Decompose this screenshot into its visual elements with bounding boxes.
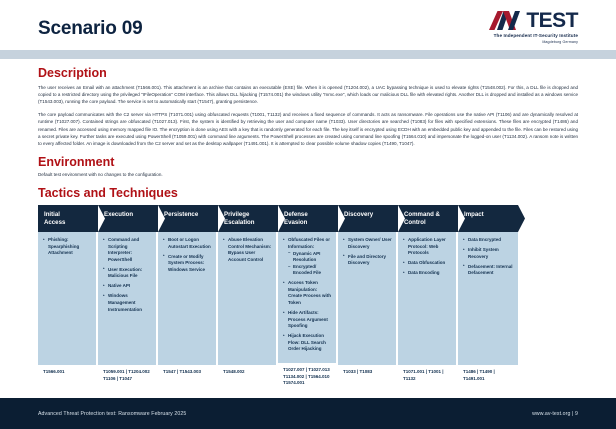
technique-item: Data Encoding <box>403 270 452 277</box>
chevron-notch-icon <box>158 205 165 232</box>
technique-list: System Owner/ User DiscoveryFile and Dir… <box>343 237 392 267</box>
technique-list: Data EncryptedInhibit System RecoveryDef… <box>463 237 514 277</box>
technique-item: Application Layer Protocol: Web Protocol… <box>403 237 452 257</box>
technique-ids: T1071.001 | T1001 | T1132 <box>398 365 456 389</box>
technique-label: Access Token Manipulation: Create Proces… <box>288 280 331 305</box>
technique-label: File and Directory Discovery <box>348 254 386 266</box>
page-title: Scenario 09 <box>38 19 142 38</box>
chevron-notch-icon <box>338 205 345 232</box>
chevron-notch-icon <box>398 205 405 232</box>
technique-item: Native API <box>103 283 152 290</box>
description-heading: Description <box>38 67 578 81</box>
tactic-column-body: System Owner/ User DiscoveryFile and Dir… <box>338 232 396 365</box>
tactic-column-body: Data EncryptedInhibit System RecoveryDef… <box>458 232 518 365</box>
technique-label: Obfuscated Files or Information: <box>288 237 330 249</box>
tactic-column-header: Execution <box>98 205 158 232</box>
environment-text: Default test environment with no changes… <box>38 172 578 179</box>
tactic-column-header: Impact <box>458 205 518 232</box>
environment-heading: Environment <box>38 156 578 170</box>
tactic-column-body: Obfuscated Files or Information:Dynamic … <box>278 232 336 363</box>
footer-url-page: www.av-test.org | 9 <box>532 411 578 417</box>
technique-ids: T1548.002 <box>218 365 276 389</box>
tactic-header-line: Evasion <box>284 219 338 227</box>
technique-item: Windows Management Instrumentation <box>103 293 152 313</box>
tactic-header-line: Discovery <box>344 211 398 219</box>
av-chevron-icon <box>489 11 525 31</box>
technique-list: Phishing: Spearphishing Attachment <box>43 237 92 257</box>
technique-label: Boot or Logon Autostart Execution <box>168 237 211 249</box>
slide-footer: Advanced Threat Protection test: Ransomw… <box>0 398 616 429</box>
tactic-header-line: Control <box>404 219 458 227</box>
tactic-column: ExecutionCommand and Scripting Interpret… <box>98 205 158 389</box>
technique-list: Boot or Logon Autostart ExecutionCreate … <box>163 237 212 273</box>
technique-item: Defacement: Internal Defacement <box>463 264 514 277</box>
technique-label: Abuse Elevation Control Mechanism: Bypas… <box>228 237 271 262</box>
tactic-column-header: InitialAccess <box>38 205 98 232</box>
technique-list: Application Layer Protocol: Web Protocol… <box>403 237 452 277</box>
technique-item: Phishing: Spearphishing Attachment <box>43 237 92 257</box>
technique-label: Phishing: Spearphishing Attachment <box>48 237 79 255</box>
technique-label: Command and Scripting Interpreter: Power… <box>108 237 139 262</box>
technique-label: Native API <box>108 283 130 288</box>
technique-label: Windows Management Instrumentation <box>108 293 142 311</box>
chevron-notch-icon <box>218 205 225 232</box>
technique-list: Abuse Elevation Control Mechanism: Bypas… <box>223 237 272 263</box>
technique-label: Inhibit System Recovery <box>468 247 499 259</box>
chevron-notch-icon <box>278 205 285 232</box>
technique-subitem: Encrypted/ Encoded File <box>288 264 332 277</box>
header-divider <box>0 50 616 59</box>
tactic-header-line: Initial <box>44 211 98 219</box>
tactics-and-techniques-table: InitialAccessPhishing: Spearphishing Att… <box>38 205 578 389</box>
tactic-column-body: Abuse Elevation Control Mechanism: Bypas… <box>218 232 276 365</box>
technique-subitem: Dynamic API Resolution <box>288 251 332 264</box>
tactic-column-body: Command and Scripting Interpreter: Power… <box>98 232 156 365</box>
description-paragraph-2: The core payload communicates with the C… <box>38 111 578 148</box>
logo-city: Magdeburg Germany <box>542 40 578 44</box>
technique-item: Obfuscated Files or Information:Dynamic … <box>283 237 332 277</box>
tactics-heading: Tactics and Techniques <box>38 187 578 201</box>
technique-item: Data Obfuscation <box>403 260 452 267</box>
tactic-column-body: Application Layer Protocol: Web Protocol… <box>398 232 456 365</box>
technique-item: Hijack Execution Flow: DLL Search Order … <box>283 333 332 353</box>
technique-item: File and Directory Discovery <box>343 254 392 267</box>
technique-item: Hide Artifacts: Process Argument Spoofin… <box>283 310 332 330</box>
technique-item: Command and Scripting Interpreter: Power… <box>103 237 152 263</box>
logo-lockup: TEST <box>489 10 578 31</box>
technique-ids: T1033 | T1083 <box>338 365 396 389</box>
technique-ids: T1059.001 | T1204.002 T1106 | T1047 <box>98 365 156 389</box>
technique-ids: T1027.007 | T1027.013 T1134.002 | T1564.… <box>278 363 336 389</box>
technique-label: Hijack Execution Flow: DLL Search Order … <box>288 333 326 351</box>
technique-item: Data Encrypted <box>463 237 514 244</box>
technique-list: Command and Scripting Interpreter: Power… <box>103 237 152 313</box>
tactic-column: ImpactData EncryptedInhibit System Recov… <box>458 205 518 389</box>
technique-item: System Owner/ User Discovery <box>343 237 392 250</box>
tactic-column: DiscoverySystem Owner/ User DiscoveryFil… <box>338 205 398 389</box>
footer-test-name: Advanced Threat Protection test: Ransomw… <box>38 411 186 417</box>
technique-item: Abuse Elevation Control Mechanism: Bypas… <box>223 237 272 263</box>
technique-label: Data Encrypted <box>468 237 501 242</box>
chevron-notch-icon <box>458 205 465 232</box>
technique-label: Data Obfuscation <box>408 260 445 265</box>
tactic-header-line: Defense <box>284 211 338 219</box>
technique-ids: T1486 | T1490 | T1491.001 <box>458 365 518 389</box>
tactic-column-body: Phishing: Spearphishing Attachment <box>38 232 96 365</box>
chevron-right-icon <box>518 205 525 232</box>
tactic-column-header: Discovery <box>338 205 398 232</box>
technique-label: Application Layer Protocol: Web Protocol… <box>408 237 446 255</box>
technique-list: Obfuscated Files or Information:Dynamic … <box>283 237 332 353</box>
description-paragraph-1: The user receives an Email with an attac… <box>38 84 578 106</box>
technique-label: Defacement: Internal Defacement <box>468 264 513 276</box>
tactic-column-header: Persistence <box>158 205 218 232</box>
tactic-header-line: Access <box>44 219 98 227</box>
tactic-header-line: Privilege <box>224 211 278 219</box>
tactic-column-header: PrivilegeEscalation <box>218 205 278 232</box>
slide-content: Description The user receives an Email w… <box>0 67 616 389</box>
technique-ids: T1566.001 <box>38 365 96 389</box>
tactic-header-line: Persistence <box>164 211 218 219</box>
tactic-column: DefenseEvasionObfuscated Files or Inform… <box>278 205 338 389</box>
tactic-column-header: DefenseEvasion <box>278 205 338 232</box>
tactic-header-line: Impact <box>464 211 518 219</box>
tactic-header-line: Command & <box>404 211 458 219</box>
logo-tagline: The Independent IT-Security Institute <box>494 33 578 38</box>
tactic-column-header: Command &Control <box>398 205 458 232</box>
tactic-column-body: Boot or Logon Autostart ExecutionCreate … <box>158 232 216 365</box>
logo-wordmark: TEST <box>526 10 578 31</box>
tactic-column: InitialAccessPhishing: Spearphishing Att… <box>38 205 98 389</box>
technique-label: User Execution: Malicious File <box>108 267 142 279</box>
technique-ids: T1547 | T1543.003 <box>158 365 216 389</box>
tactic-column: Command &ControlApplication Layer Protoc… <box>398 205 458 389</box>
technique-sublist: Dynamic API ResolutionEncrypted/ Encoded… <box>288 251 332 277</box>
technique-label: Data Encoding <box>408 270 440 275</box>
technique-item: Inhibit System Recovery <box>463 247 514 260</box>
technique-item: Access Token Manipulation: Create Proces… <box>283 280 332 306</box>
technique-item: Create or Modify System Process: Windows… <box>163 254 212 274</box>
tactic-column: PersistenceBoot or Logon Autostart Execu… <box>158 205 218 389</box>
technique-label: System Owner/ User Discovery <box>348 237 392 249</box>
av-test-logo: TEST The Independent IT-Security Institu… <box>489 10 578 44</box>
slide-page: Scenario 09 TEST The Independent IT-Secu… <box>0 0 616 429</box>
technique-item: Boot or Logon Autostart Execution <box>163 237 212 250</box>
tactic-column: PrivilegeEscalationAbuse Elevation Contr… <box>218 205 278 389</box>
tactic-header-line: Escalation <box>224 219 278 227</box>
technique-label: Hide Artifacts: Process Argument Spoofin… <box>288 310 328 328</box>
tactic-header-line: Execution <box>104 211 158 219</box>
technique-item: User Execution: Malicious File <box>103 267 152 280</box>
slide-header: Scenario 09 TEST The Independent IT-Secu… <box>0 0 616 50</box>
technique-label: Create or Modify System Process: Windows… <box>168 254 205 272</box>
chevron-notch-icon <box>98 205 105 232</box>
